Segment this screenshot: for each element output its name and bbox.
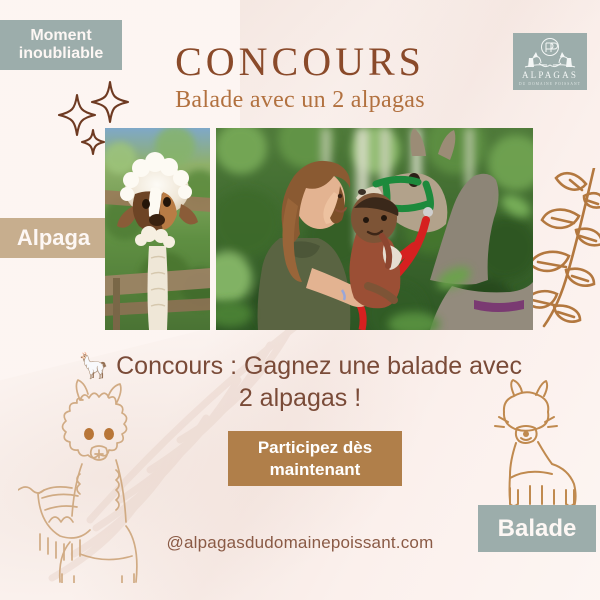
logo-tagline-text: DU DOMAINE POISSANT (519, 82, 581, 86)
logo-brand-text: ALPAGAS (522, 70, 578, 80)
participate-button[interactable]: Participez dès maintenant (228, 431, 402, 486)
leaf-branch-icon (524, 168, 600, 328)
llama-icon: 🦙 (78, 352, 109, 380)
page-subtitle: Balade avec un 2 alpagas (0, 88, 600, 112)
brand-logo[interactable]: ALPAGAS DU DOMAINE POISSANT (513, 33, 587, 90)
badge-alpaga: Alpaga (0, 218, 107, 258)
alpagas-logo-icon: ALPAGAS DU DOMAINE POISSANT (513, 33, 587, 90)
photo-alpaca-closeup (105, 128, 210, 330)
promo-headline: 🦙 Concours : Gagnez une balade avec 2 al… (70, 350, 530, 414)
promo-poster: CONCOURS Balade avec un 2 alpagas ALPAGA… (0, 0, 600, 600)
promo-headline-text: Concours : Gagnez une balade avec 2 alpa… (116, 352, 522, 412)
website-handle: @alpagasdudomainepoissant.com (0, 533, 600, 553)
photo-woman-baby-alpaca (216, 128, 533, 330)
badge-moment-inoubliable: Moment inoubliable (0, 20, 122, 70)
